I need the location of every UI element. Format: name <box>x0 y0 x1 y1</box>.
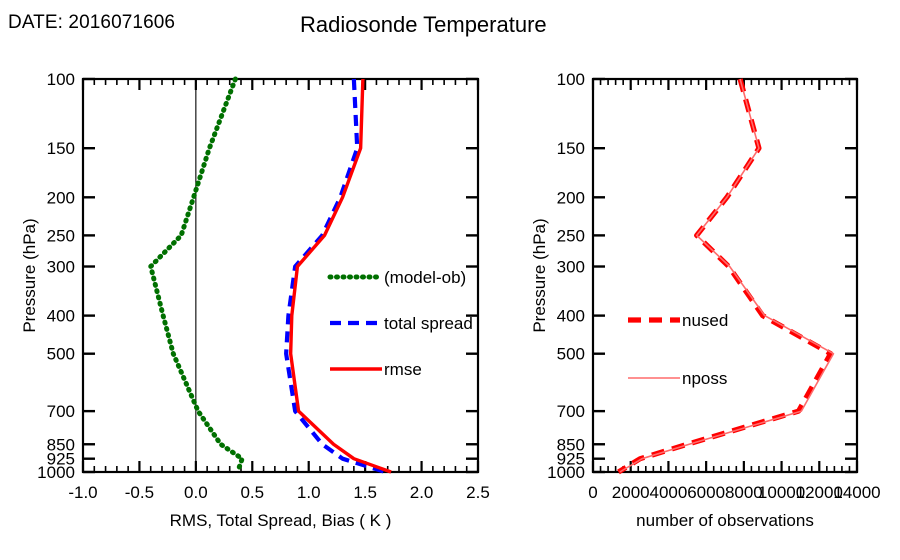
right-xtick-label: 14000 <box>833 483 880 502</box>
right-ytick-label: 1000 <box>547 463 585 482</box>
right-series-nused <box>618 79 830 472</box>
right-ytick-label: 100 <box>557 70 585 89</box>
left-xtick-label: 2.0 <box>410 483 434 502</box>
left-xtick-label: 2.5 <box>466 483 490 502</box>
left-ytick-label: 250 <box>47 226 75 245</box>
left-y-axis-label: Pressure (hPa) <box>20 218 39 332</box>
right-series-nposs <box>620 79 834 472</box>
right-xtick-label: 0 <box>588 483 597 502</box>
left-legend: (model-ob)total spreadrmse <box>330 268 473 379</box>
left-ytick-label: 150 <box>47 139 75 158</box>
legend-total-spread-label: total spread <box>384 314 473 333</box>
left-ytick-label: 200 <box>47 188 75 207</box>
legend-nused-label: nused <box>682 311 728 330</box>
left-ytick-label: 300 <box>47 258 75 277</box>
right-plot-frame <box>593 79 857 472</box>
chart-page: DATE: 2016071606 Radiosonde Temperature … <box>0 0 900 560</box>
left-xtick-label: -0.5 <box>125 483 154 502</box>
left-x-axis-label: RMS, Total Spread, Bias ( K ) <box>170 511 392 530</box>
right-ytick-label: 150 <box>557 139 585 158</box>
right-ytick-label: 250 <box>557 226 585 245</box>
legend-rmse-label: rmse <box>384 360 422 379</box>
legend-nposs-label: nposs <box>682 369 727 388</box>
left-xtick-label: 1.0 <box>297 483 321 502</box>
left-ytick-label: 700 <box>47 402 75 421</box>
plot-canvas: -1.0-0.50.00.51.01.52.02.510015020025030… <box>0 0 900 560</box>
left-ytick-label: 1000 <box>37 463 75 482</box>
right-ytick-label: 200 <box>557 188 585 207</box>
right-ytick-label: 700 <box>557 402 585 421</box>
right-legend: nusednposs <box>628 311 728 388</box>
right-xtick-label: 6000 <box>687 483 725 502</box>
right-xtick-label: 4000 <box>650 483 688 502</box>
left-ytick-label: 100 <box>47 70 75 89</box>
right-y-axis-label: Pressure (hPa) <box>530 218 549 332</box>
right-x-axis-label: number of observations <box>636 511 814 530</box>
right-ytick-label: 300 <box>557 258 585 277</box>
left-xtick-label: 0.5 <box>240 483 264 502</box>
right-ytick-label: 500 <box>557 345 585 364</box>
right-ytick-label: 400 <box>557 307 585 326</box>
right-xtick-label: 2000 <box>612 483 650 502</box>
right-panel: 0200040006000800010000120001400010015020… <box>530 70 881 530</box>
left-ytick-label: 400 <box>47 307 75 326</box>
left-ytick-label: 500 <box>47 345 75 364</box>
left-series-modelob <box>151 79 242 472</box>
left-xtick-label: 0.0 <box>184 483 208 502</box>
left-panel: -1.0-0.50.00.51.01.52.02.510015020025030… <box>20 70 490 530</box>
left-xtick-label: 1.5 <box>353 483 377 502</box>
left-xtick-label: -1.0 <box>68 483 97 502</box>
legend-model-ob-label: (model-ob) <box>384 268 466 287</box>
